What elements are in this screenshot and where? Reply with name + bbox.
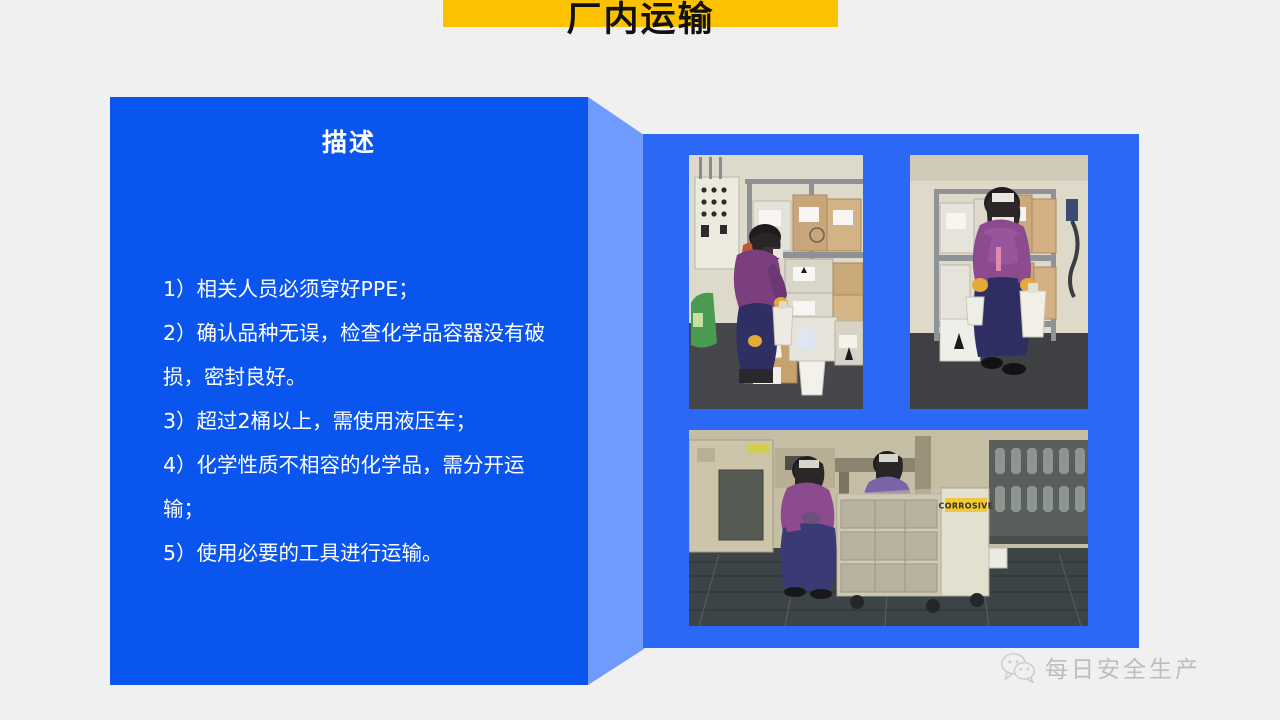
- panel-bevel-arrow: [588, 97, 644, 685]
- list-item: 2）确认品种无误，检查化学品容器没有破损，密封良好。: [163, 311, 560, 399]
- description-list: 1）相关人员必须穿好PPE； 2）确认品种无误，检查化学品容器没有破损，密封良好…: [163, 267, 560, 575]
- svg-text:CORROSIVE: CORROSIVE: [939, 502, 994, 511]
- list-item: 4）化学性质不相容的化学品，需分开运输；: [163, 443, 560, 531]
- image-panel: CORROSIVE: [643, 134, 1139, 648]
- page-title: 厂内运输: [443, 0, 838, 44]
- photo-bottom: CORROSIVE: [689, 430, 1088, 626]
- list-item: 5）使用必要的工具进行运输。: [163, 531, 560, 575]
- description-heading: 描述: [110, 123, 588, 159]
- photo-top-right: [910, 155, 1088, 409]
- photo-top-left: [689, 155, 863, 409]
- description-panel: 描述 1）相关人员必须穿好PPE； 2）确认品种无误，检查化学品容器没有破损，密…: [110, 97, 588, 685]
- wechat-icon: [1000, 652, 1036, 682]
- watermark: 每日安全生产: [1000, 650, 1201, 684]
- watermark-text: 每日安全生产: [1045, 650, 1201, 684]
- list-item: 3）超过2桶以上，需使用液压车；: [163, 399, 560, 443]
- list-item: 1）相关人员必须穿好PPE；: [163, 267, 560, 311]
